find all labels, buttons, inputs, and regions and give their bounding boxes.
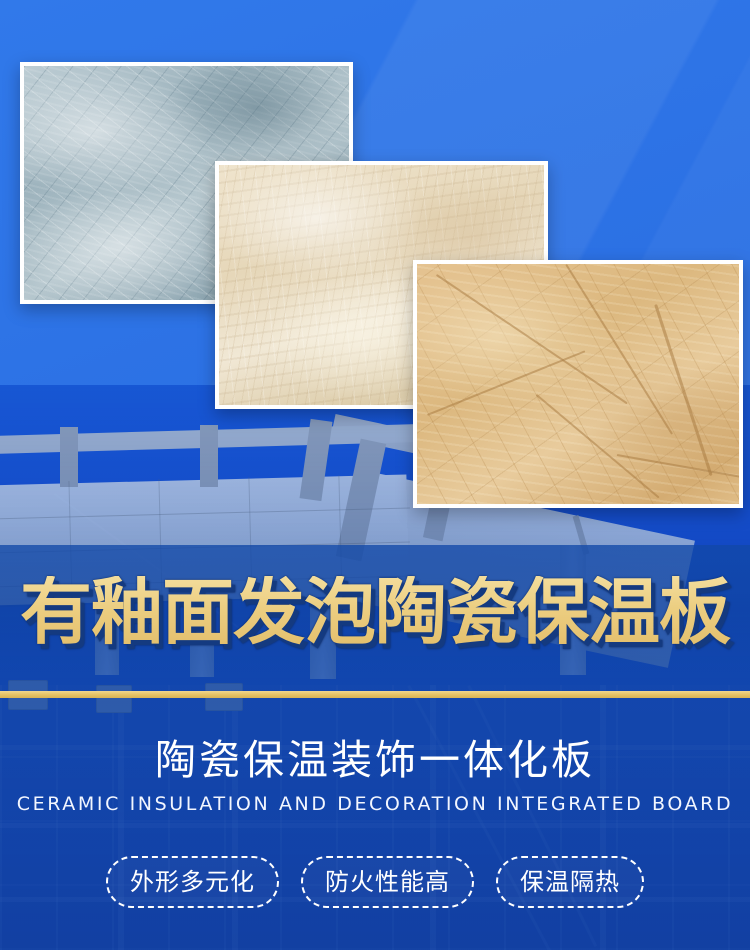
gold-divider [0,691,750,698]
page-title: 有釉面发泡陶瓷保温板 [0,576,750,648]
product-banner: 有釉面发泡陶瓷保温板 陶瓷保温装饰一体化板 CERAMIC INSULATION… [0,0,750,950]
subtitle-chinese: 陶瓷保温装饰一体化板 [0,738,750,783]
feature-badge-2[interactable]: 防火性能高 [301,856,474,908]
feature-badge-3[interactable]: 保温隔热 [496,856,644,908]
feature-badge-list: 外形多元化 防火性能高 保温隔热 [0,856,750,908]
sample-tile-3 [413,260,743,508]
subtitle-english: CERAMIC INSULATION AND DECORATION INTEGR… [0,793,750,816]
feature-badge-1[interactable]: 外形多元化 [106,856,279,908]
